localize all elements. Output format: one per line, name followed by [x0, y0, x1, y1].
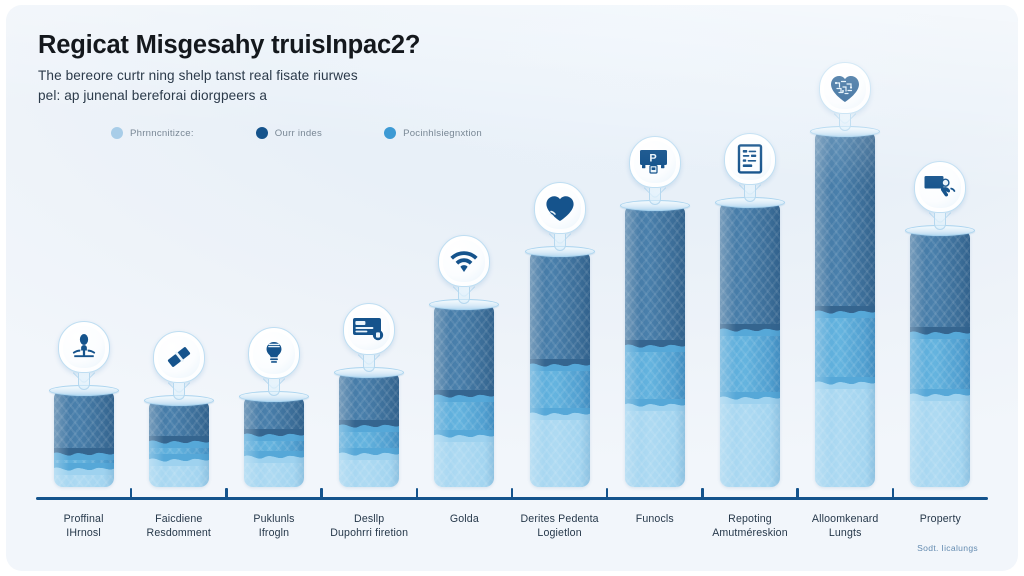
heart-circuit-icon[interactable] [819, 62, 871, 114]
category-label: ProffinalIHrnosl [36, 512, 131, 540]
category-label-line: Funocls [607, 512, 702, 526]
pin-stem [839, 114, 851, 131]
axis-tick [892, 488, 894, 499]
bar-segment-light [720, 397, 780, 487]
pin-stem [78, 373, 90, 390]
heart-icon[interactable] [534, 182, 586, 234]
legend-item-label: Pocinhlsiegnxtion [403, 128, 482, 139]
bar-marker-pin[interactable] [819, 62, 871, 114]
category-label: DesllpDupohrri firetion [322, 512, 417, 540]
bar-segment-mid [434, 395, 494, 435]
legend-item[interactable]: Pocinhlsiegnxtion [384, 127, 482, 139]
bar-marker-pin[interactable] [724, 133, 776, 185]
pin-stem [363, 355, 375, 372]
bar-cylinder [625, 206, 685, 487]
axis-tick [701, 488, 703, 499]
category-label: Funocls [607, 512, 702, 526]
bar-marker-pin[interactable] [914, 161, 966, 213]
bar-marker-pin[interactable] [534, 182, 586, 234]
bar-cylinder [434, 305, 494, 487]
category-label-line: Alloomkenard [798, 512, 893, 526]
category-label-line: Repoting [702, 512, 797, 526]
category-label-line: Desllp [322, 512, 417, 526]
bar-segment-dark [244, 397, 304, 434]
bar-column[interactable] [244, 397, 304, 487]
bar-segment-light [149, 459, 209, 487]
bar-segment-dark [149, 401, 209, 441]
axis-tick [511, 488, 513, 499]
category-label-line: Puklunls [226, 512, 321, 526]
category-label: Derites PedentaLogietlon [512, 512, 607, 540]
bar-segment-dark [54, 391, 114, 453]
axis-tick [416, 488, 418, 499]
bar-segment-dark [434, 305, 494, 395]
bar-segment-light [625, 404, 685, 487]
category-label: Property [893, 512, 988, 526]
category-label-line: IHrnosl [36, 526, 131, 540]
card-payment-icon[interactable] [343, 303, 395, 355]
bar-column[interactable] [720, 203, 780, 487]
svg-text:P: P [649, 153, 656, 165]
pin-stem [554, 234, 566, 251]
bar-segment-mid [815, 311, 875, 382]
legend-item[interactable]: Ourr indes [256, 127, 322, 139]
document-list-icon[interactable] [724, 133, 776, 185]
bar-cylinder [339, 373, 399, 487]
bar-segment-mid [54, 453, 114, 468]
bar-cylinder [910, 231, 970, 487]
pin-stem [268, 379, 280, 396]
category-label: FaicdieneResdomment [131, 512, 226, 540]
chart-card: Regicat Misgesahy truisInpac2? The bereo… [6, 5, 1018, 571]
subtitle-line-1: The bereore curtr ning shelp tanst real … [38, 66, 738, 86]
category-label: Golda [417, 512, 512, 526]
bar-marker-pin[interactable]: P [629, 136, 681, 188]
screen-hand-icon[interactable] [914, 161, 966, 213]
bar-segment-light [910, 394, 970, 487]
pin-stem [649, 188, 661, 205]
legend-item-label: Phrnncnitizce: [130, 128, 194, 139]
legend-dot-light [111, 127, 123, 139]
bar-column[interactable]: P [625, 206, 685, 487]
parking-card-icon[interactable]: P [629, 136, 681, 188]
bar-column[interactable] [54, 391, 114, 487]
bar-column[interactable] [149, 401, 209, 487]
bar-segment-dark [339, 373, 399, 425]
bar-segment-dark [625, 206, 685, 345]
bar-cylinder [530, 252, 590, 487]
bar-segment-dark [910, 231, 970, 332]
pin-stem [458, 287, 470, 304]
footer-note: Sodt. Iicalungs [917, 543, 978, 553]
category-label-line: Property [893, 512, 988, 526]
wifi-icon[interactable] [438, 235, 490, 287]
lightbulb-icon[interactable] [248, 327, 300, 379]
axis-tick [320, 488, 322, 499]
bar-segment-mid [339, 425, 399, 453]
axis-tick [130, 488, 132, 499]
bar-marker-pin[interactable] [153, 331, 205, 383]
bar-segment-light [244, 456, 304, 487]
subtitle-line-2: pel: ap junenal bereforai diorgpeers a [38, 86, 738, 106]
category-label-line: Faicdiene [131, 512, 226, 526]
bar-cylinder [815, 132, 875, 487]
bar-marker-pin[interactable] [438, 235, 490, 287]
category-label-line: Amutméreskion [702, 526, 797, 540]
person-icon[interactable] [58, 321, 110, 373]
category-label-line: Dupohrri firetion [322, 526, 417, 540]
chart-axis-baseline [36, 497, 988, 500]
axis-tick [796, 488, 798, 499]
pin-stem [744, 185, 756, 202]
category-label-line: Ifrogln [226, 526, 321, 540]
bar-segment-light [530, 413, 590, 487]
bar-segment-mid [910, 332, 970, 394]
bar-column[interactable] [339, 373, 399, 487]
category-label-line: Lungts [798, 526, 893, 540]
category-label-line: Resdomment [131, 526, 226, 540]
ticket-icon[interactable] [153, 331, 205, 383]
bar-segment-light [54, 468, 114, 487]
bar-marker-pin[interactable] [248, 327, 300, 379]
category-label-line: Golda [417, 512, 512, 526]
axis-tick [606, 488, 608, 499]
category-label: PuklunlsIfrogln [226, 512, 321, 540]
bar-column[interactable] [910, 231, 970, 487]
chart-legend: Phrnncnitizce:Ourr indesPocinhlsiegnxtio… [111, 127, 482, 139]
bar-cylinder [244, 397, 304, 487]
bar-cylinder [149, 401, 209, 487]
bar-segment-light [434, 435, 494, 487]
bar-segment-mid [625, 345, 685, 404]
chart-header: Regicat Misgesahy truisInpac2? The bereo… [38, 31, 738, 106]
bar-segment-light [339, 453, 399, 487]
bar-column[interactable] [815, 132, 875, 487]
category-label-line: Proffinal [36, 512, 131, 526]
bar-segment-mid [244, 434, 304, 456]
category-label-line: Derites Pedenta [512, 512, 607, 526]
bar-segment-mid [149, 441, 209, 459]
legend-item-label: Ourr indes [275, 128, 322, 139]
pin-stem [173, 383, 185, 400]
pin-stem [934, 213, 946, 230]
page-title: Regicat Misgesahy truisInpac2? [38, 31, 738, 60]
bar-cylinder [720, 203, 780, 487]
bar-segment-mid [720, 329, 780, 397]
category-label-line: Logietlon [512, 526, 607, 540]
category-label: RepotingAmutméreskion [702, 512, 797, 540]
bar-column[interactable] [530, 252, 590, 487]
bar-segment-dark [530, 252, 590, 364]
legend-dot-mid [384, 127, 396, 139]
bar-marker-pin[interactable] [58, 321, 110, 373]
axis-tick [225, 488, 227, 499]
legend-item[interactable]: Phrnncnitizce: [111, 127, 194, 139]
bar-marker-pin[interactable] [343, 303, 395, 355]
bar-column[interactable] [434, 305, 494, 487]
bar-cylinder [54, 391, 114, 487]
legend-dot-dark [256, 127, 268, 139]
category-label: AlloomkenardLungts [798, 512, 893, 540]
bar-segment-dark [815, 132, 875, 311]
bar-segment-light [815, 382, 875, 487]
bar-segment-dark [720, 203, 780, 329]
bar-segment-mid [530, 364, 590, 413]
